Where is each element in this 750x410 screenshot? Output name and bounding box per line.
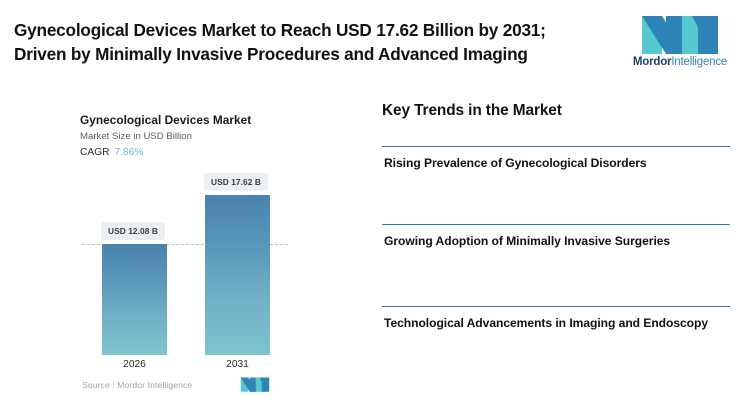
- mordor-intelligence-logo: MordorIntelligence: [624, 10, 736, 76]
- bar-2031: [205, 195, 270, 355]
- page-title: Gynecological Devices Market to Reach US…: [14, 18, 604, 67]
- footer-mordor-m-logo-svg: [240, 375, 270, 392]
- bar-chart-plot-area: USD 12.08 B 2026 USD 17.62 B 2031: [0, 86, 372, 410]
- trend-item-3: Technological Advancements in Imaging an…: [384, 314, 728, 332]
- bar-2026: [102, 244, 167, 355]
- key-trends-panel: Key Trends in the Market Rising Prevalen…: [382, 86, 732, 410]
- bar-value-label-2031: USD 17.62 B: [204, 173, 268, 191]
- footer-mordor-m-logo-icon: [240, 375, 270, 392]
- logo-word-intelligence: Intelligence: [671, 56, 727, 68]
- mordor-m-logo-icon: [640, 10, 720, 54]
- bar-value-label-2026: USD 12.08 B: [101, 222, 165, 240]
- logo-word-mordor: Mordor: [633, 56, 671, 68]
- mordor-m-logo-svg: [640, 10, 720, 54]
- trend-divider-3: [382, 306, 730, 307]
- page-title-line-1: Gynecological Devices Market to Reach US…: [14, 18, 604, 42]
- trend-divider-1: [382, 146, 730, 147]
- header: Gynecological Devices Market to Reach US…: [0, 0, 750, 86]
- x-axis-label-2026: 2026: [102, 359, 167, 370]
- mordor-logo-wordmark: MordorIntelligence: [624, 57, 736, 69]
- trend-item-2: Growing Adoption of Minimally Invasive S…: [384, 232, 728, 250]
- chart-panel: Gynecological Devices Market Market Size…: [0, 86, 372, 410]
- source-note: Source : Mordor Intelligence: [82, 380, 192, 390]
- trend-divider-2: [382, 224, 730, 225]
- trend-item-1: Rising Prevalence of Gynecological Disor…: [384, 154, 728, 172]
- x-axis-label-2031: 2031: [205, 359, 270, 370]
- page-title-line-2: Driven by Minimally Invasive Procedures …: [14, 42, 604, 66]
- key-trends-title: Key Trends in the Market: [382, 102, 562, 120]
- infographic-page: Gynecological Devices Market to Reach US…: [0, 0, 750, 410]
